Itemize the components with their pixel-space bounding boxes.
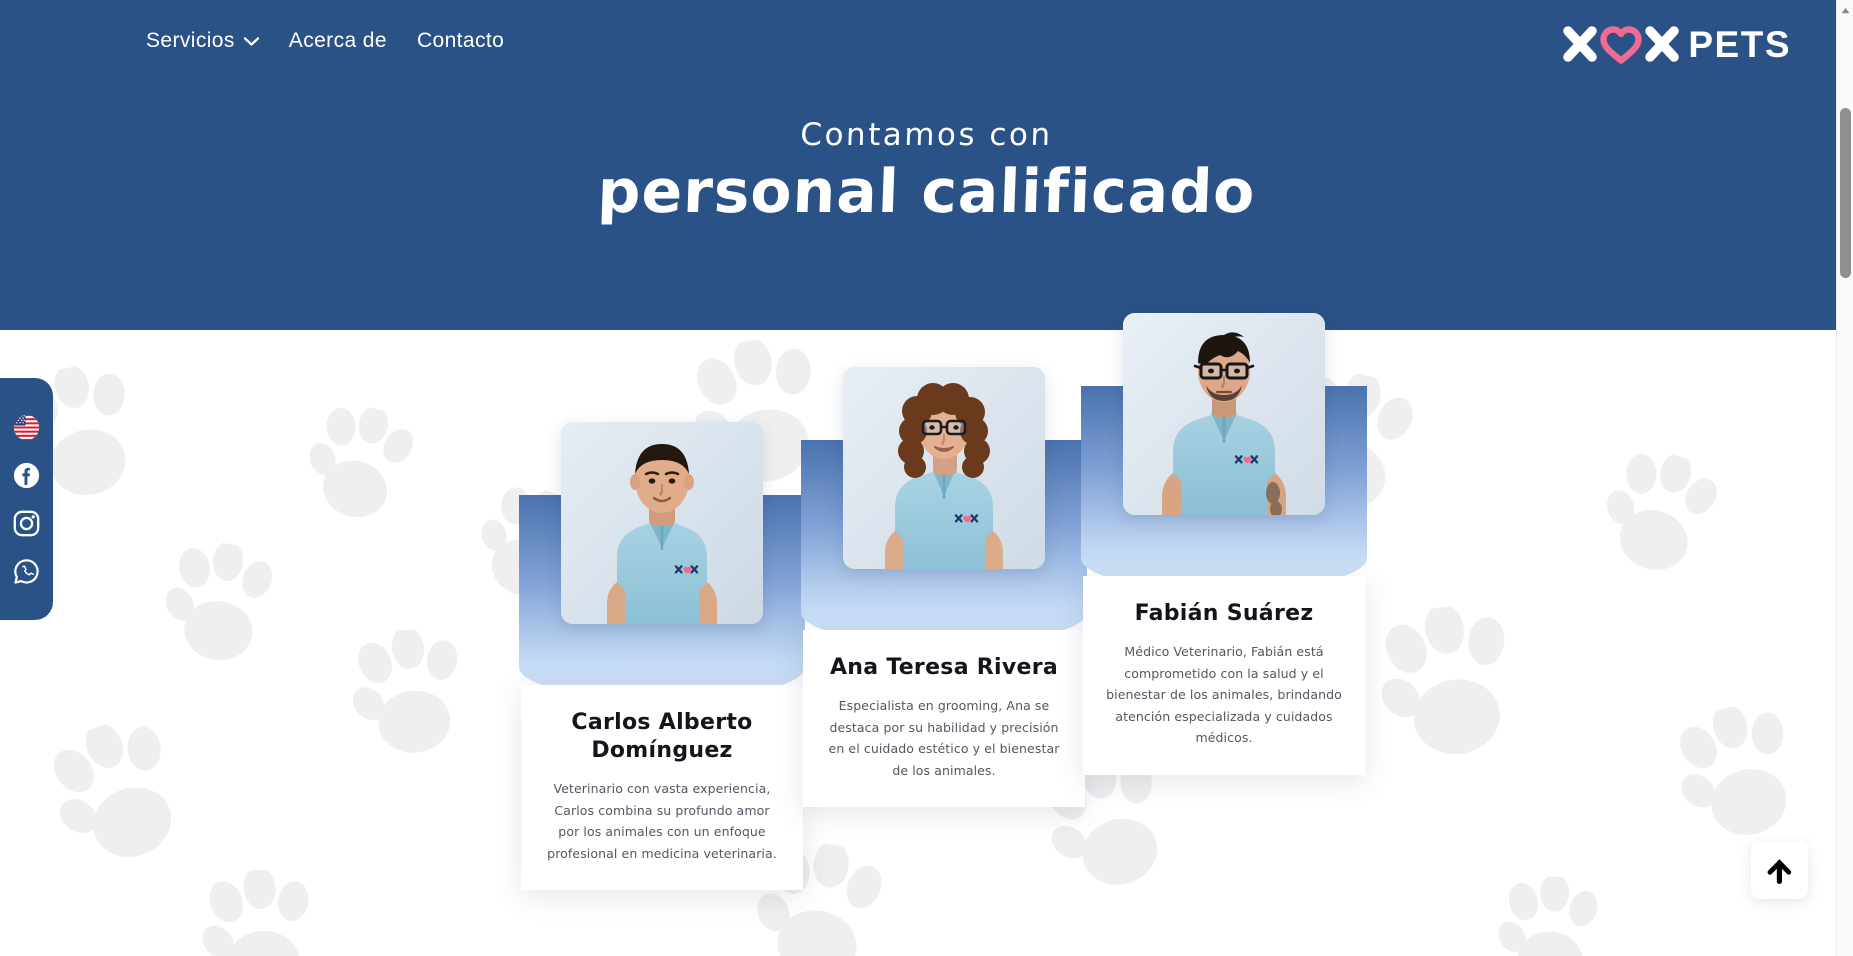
- whatsapp-icon[interactable]: [13, 558, 40, 585]
- team-member-name: Carlos Alberto Domínguez: [543, 709, 781, 765]
- social-sidebar: [0, 378, 53, 620]
- us-flag-icon[interactable]: [13, 414, 40, 441]
- team-member-photo: [561, 422, 763, 624]
- team-section: Carlos Alberto Domínguez Veterinario con…: [0, 330, 1853, 956]
- nav-links: Servicios Acerca de Contacto: [146, 29, 504, 53]
- scrollbar-thumb[interactable]: [1840, 108, 1851, 278]
- team-member-bio: Veterinario con vasta experiencia, Carlo…: [543, 778, 781, 864]
- hero-headline: personal calificado: [0, 158, 1853, 227]
- arrow-up-icon: [1766, 856, 1793, 885]
- team-member-bio: Médico Veterinario, Fabián está comprome…: [1105, 641, 1343, 749]
- vertical-scrollbar[interactable]: [1836, 0, 1853, 956]
- team-member-info: Carlos Alberto Domínguez Veterinario con…: [521, 685, 803, 890]
- team-member-name: Ana Teresa Rivera: [825, 654, 1063, 682]
- facebook-icon[interactable]: [13, 462, 40, 489]
- team-member-name: Fabián Suárez: [1105, 600, 1343, 628]
- logo-wordmark: PETS: [1688, 26, 1791, 63]
- nav-item-label: Servicios: [146, 29, 235, 53]
- team-member-bio: Especialista en grooming, Ana se destaca…: [825, 695, 1063, 781]
- team-member-info: Ana Teresa Rivera Especialista en groomi…: [803, 630, 1085, 807]
- chevron-down-icon[interactable]: [244, 37, 259, 46]
- nav-item-label: Contacto: [417, 29, 504, 53]
- nav-item-servicios[interactable]: Servicios: [146, 29, 259, 53]
- nav-item-contacto[interactable]: Contacto: [417, 29, 504, 53]
- nav-item-acerca-de[interactable]: Acerca de: [289, 29, 387, 53]
- team-member-photo: [843, 367, 1045, 569]
- caret-up-icon[interactable]: [1837, 2, 1853, 19]
- site-logo[interactable]: PETS: [1562, 22, 1791, 66]
- xox-heart-mark-icon: [1562, 22, 1680, 66]
- page-root: Servicios Acerca de Contacto: [0, 0, 1853, 956]
- scroll-to-top-button[interactable]: [1751, 842, 1808, 899]
- instagram-icon[interactable]: [13, 510, 40, 537]
- page-title: Contamos con personal calificado: [0, 118, 1853, 227]
- team-member-info: Fabián Suárez Médico Veterinario, Fabián…: [1083, 576, 1365, 775]
- nav-item-label: Acerca de: [289, 29, 387, 53]
- hero-kicker: Contamos con: [0, 118, 1853, 154]
- team-member-photo: [1123, 313, 1325, 515]
